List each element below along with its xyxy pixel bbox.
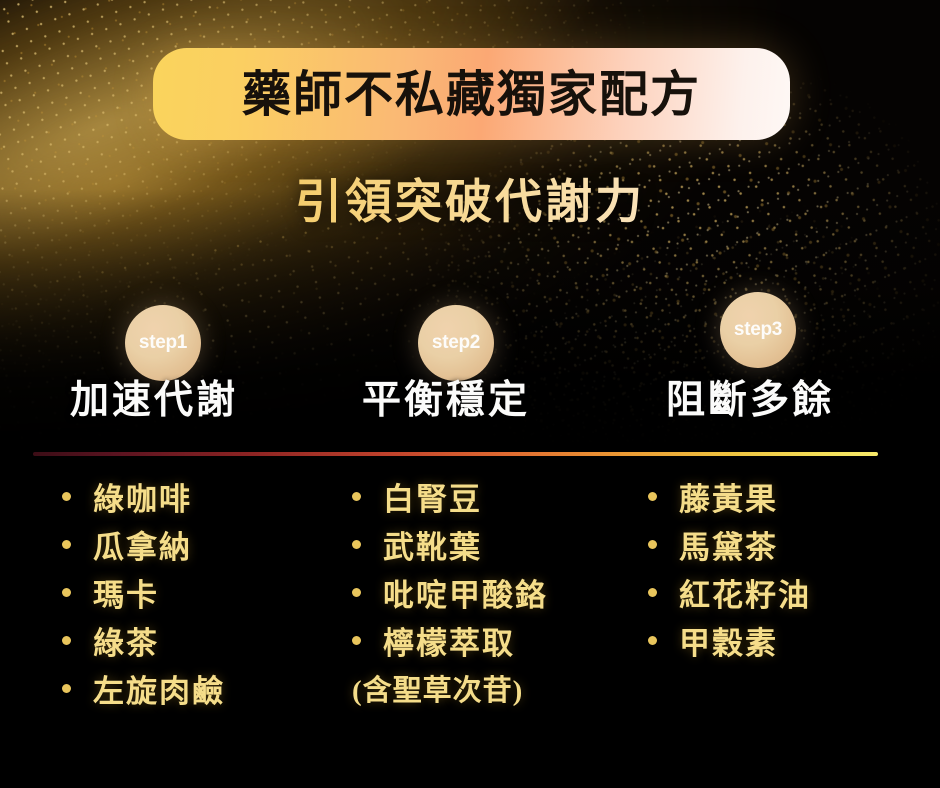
ingredient-note: (含聖草次苷)	[352, 664, 642, 712]
step-heading-row: 加速代謝 平衡穩定 阻斷多餘	[0, 381, 940, 429]
ingredient-label: 紅花籽油	[679, 570, 811, 615]
ingredient-label: 綠咖啡	[93, 474, 192, 519]
step-badge-label: step3	[734, 319, 782, 341]
ingredient-label: 藤黃果	[679, 474, 778, 519]
ingredient-item: 武靴葉	[352, 520, 642, 568]
ingredient-item: 瑪卡	[62, 568, 342, 616]
ingredient-list-2: 白腎豆 武靴葉 吡啶甲酸鉻 檸檬萃取	[352, 472, 642, 664]
bullet-icon	[352, 636, 361, 645]
bullet-icon	[62, 540, 71, 549]
bullet-icon	[648, 540, 657, 549]
step-badge-3: step3	[720, 292, 796, 368]
ingredient-list-1: 綠咖啡 瓜拿納 瑪卡 綠茶 左旋肉鹼	[62, 472, 342, 712]
ingredient-column-1: 綠咖啡 瓜拿納 瑪卡 綠茶 左旋肉鹼	[62, 472, 342, 712]
bullet-icon	[648, 588, 657, 597]
bullet-icon	[648, 636, 657, 645]
bullet-icon	[352, 492, 361, 501]
ingredient-item: 白腎豆	[352, 472, 642, 520]
title-banner: 藥師不私藏獨家配方	[153, 48, 790, 140]
ingredient-item: 馬黛茶	[648, 520, 938, 568]
bullet-icon	[352, 588, 361, 597]
gradient-divider	[33, 452, 878, 456]
ingredient-label: 白腎豆	[383, 474, 482, 519]
ingredient-item: 甲穀素	[648, 616, 938, 664]
bullet-icon	[62, 588, 71, 597]
promo-poster: 藥師不私藏獨家配方 引領突破代謝力 step1 step2 step3 加速代謝…	[0, 0, 940, 788]
ingredient-label: 瑪卡	[93, 570, 159, 615]
ingredient-item: 紅花籽油	[648, 568, 938, 616]
ingredient-item: 綠咖啡	[62, 472, 342, 520]
step-heading-1: 加速代謝	[70, 381, 238, 420]
subtitle-text: 引領突破代謝力	[0, 175, 940, 231]
bullet-icon	[648, 492, 657, 501]
bullet-icon	[62, 636, 71, 645]
ingredient-label: 吡啶甲酸鉻	[383, 570, 548, 615]
ingredient-label: 瓜拿納	[93, 522, 192, 567]
ingredient-label: 武靴葉	[383, 522, 482, 567]
step-badge-label: step1	[139, 332, 187, 354]
ingredient-item: 綠茶	[62, 616, 342, 664]
banner-title: 藥師不私藏獨家配方	[242, 70, 701, 119]
ingredient-item: 左旋肉鹼	[62, 664, 342, 712]
ingredient-column-2: 白腎豆 武靴葉 吡啶甲酸鉻 檸檬萃取 (含聖草次苷)	[352, 472, 642, 712]
ingredient-label: 檸檬萃取	[383, 618, 515, 663]
bullet-icon	[62, 492, 71, 501]
ingredient-item: 吡啶甲酸鉻	[352, 568, 642, 616]
step-heading-3: 阻斷多餘	[666, 381, 834, 420]
ingredient-column-3: 藤黃果 馬黛茶 紅花籽油 甲穀素	[648, 472, 938, 664]
ingredient-item: 瓜拿納	[62, 520, 342, 568]
ingredient-list-3: 藤黃果 馬黛茶 紅花籽油 甲穀素	[648, 472, 938, 664]
ingredient-label: 綠茶	[93, 618, 159, 663]
bullet-icon	[352, 540, 361, 549]
ingredient-item: 藤黃果	[648, 472, 938, 520]
step-badge-1: step1	[125, 305, 201, 381]
ingredient-label: 左旋肉鹼	[93, 666, 225, 711]
step-badge-label: step2	[432, 332, 480, 354]
ingredient-label: 甲穀素	[679, 618, 778, 663]
step-badge-2: step2	[418, 305, 494, 381]
step-heading-2: 平衡穩定	[362, 381, 530, 420]
bullet-icon	[62, 684, 71, 693]
ingredient-label: 馬黛茶	[679, 522, 778, 567]
ingredient-item: 檸檬萃取	[352, 616, 642, 664]
